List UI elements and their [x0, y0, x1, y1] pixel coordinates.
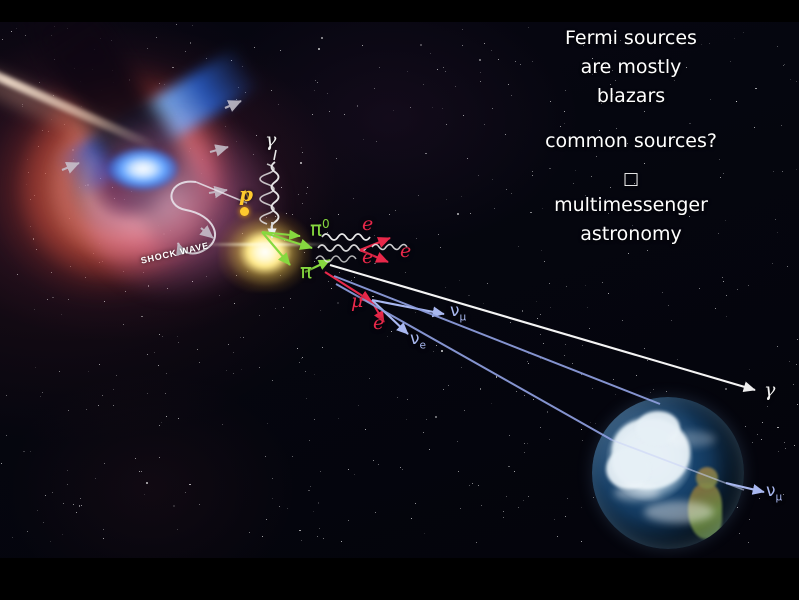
letterbox-top — [0, 0, 799, 22]
gamma-in-pointer — [274, 150, 276, 160]
muon-arrow — [325, 272, 372, 302]
neutrino-beam-upper — [334, 276, 660, 404]
annotation-text-block: Fermi sources are mostly blazars common … — [491, 26, 771, 251]
implies-arrow-glyph: □ — [491, 170, 771, 189]
gamma-ray-trajectory — [330, 265, 755, 390]
electron-arrow-down — [360, 250, 388, 262]
pion-decay-photon-2 — [318, 245, 366, 251]
inverse-compton-photon — [372, 245, 407, 250]
proton-dot — [240, 207, 249, 216]
text-line-4: common sources? — [491, 129, 771, 154]
text-line-6: astronomy — [491, 222, 771, 247]
text-line-3: blazars — [491, 84, 771, 109]
text-line-1: Fermi sources — [491, 26, 771, 51]
neutrino-mu-arrow — [372, 300, 444, 314]
slide-canvas: γ p π0 π e e e μ e νμ νe γ νμ SHOCK WAVE… — [0, 0, 799, 600]
proton-pointer — [245, 190, 249, 200]
shockwave-leader — [196, 182, 247, 203]
neutrino-through-earth — [612, 440, 744, 490]
incoming-photon-wave — [272, 162, 279, 232]
neutrino-exit-earth — [726, 483, 764, 492]
text-line-5: multimessenger — [491, 193, 771, 218]
shock-arrows — [62, 101, 241, 238]
text-gap-1 — [491, 113, 771, 129]
letterbox-bottom — [0, 558, 799, 600]
text-line-2: are mostly — [491, 55, 771, 80]
pion-decay-photon-1 — [322, 234, 370, 240]
pion-decay-photon-3 — [316, 256, 356, 262]
incoming-photon-wave-2 — [260, 164, 274, 224]
